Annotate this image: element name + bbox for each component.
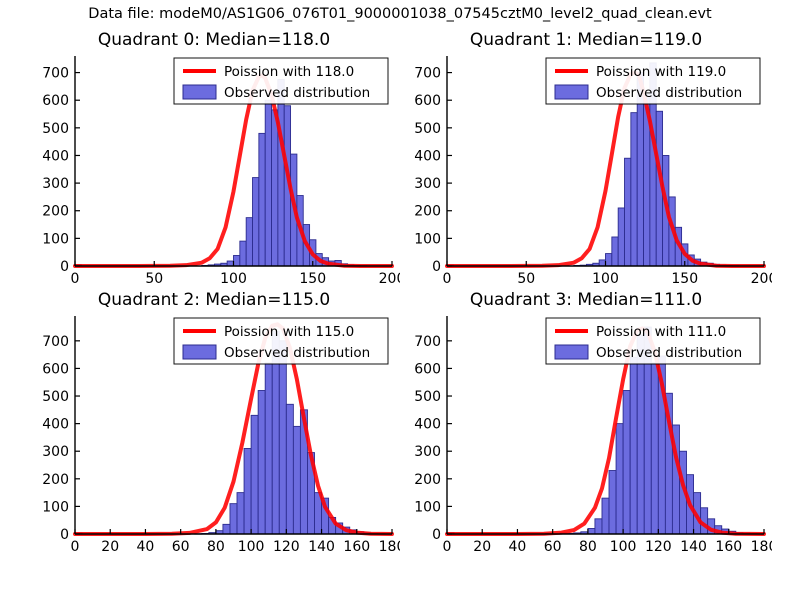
legend-label: Poission with 111.0 [596, 324, 726, 340]
histogram-bar [631, 113, 637, 266]
y-tick-label: 700 [42, 334, 69, 350]
y-tick-label: 500 [414, 389, 441, 405]
x-tick-label: 180 [379, 539, 400, 555]
histogram-bar [595, 519, 602, 534]
legend[interactable]: Poission with 115.0Observed distribution [174, 318, 388, 364]
histogram-bar [293, 426, 300, 534]
x-tick-label: 80 [207, 539, 225, 555]
legend-label: Poission with 118.0 [224, 64, 354, 80]
legend-patch-swatch [555, 345, 588, 359]
histogram-bar [599, 260, 605, 266]
histogram-bar [240, 241, 246, 266]
histogram-bar [251, 415, 258, 534]
y-tick-label: 200 [42, 472, 69, 488]
x-tick-label: 160 [715, 539, 742, 555]
x-tick-label: 120 [273, 539, 300, 555]
y-tick-label: 200 [42, 204, 69, 220]
x-tick-label: 50 [145, 271, 163, 287]
y-tick-label: 0 [60, 259, 69, 275]
y-tick-label: 500 [42, 121, 69, 137]
y-tick-label: 100 [414, 231, 441, 247]
subplot-quadrant-3: Quadrant 3: Median=111.0 020406080100120… [400, 290, 772, 566]
plot-canvas-quadrant-1: 0501001502000100200300400500600700Poissi… [400, 30, 772, 298]
x-tick-label: 60 [172, 539, 190, 555]
histogram-bar [279, 341, 286, 534]
histogram-bar [602, 498, 609, 534]
histogram-bar [265, 363, 272, 534]
subplot-quadrant-2: Quadrant 2: Median=115.0 020406080100120… [28, 290, 400, 566]
y-tick-label: 200 [414, 204, 441, 220]
histogram-bar [618, 208, 624, 266]
y-tick-label: 600 [414, 93, 441, 109]
y-tick-label: 700 [42, 66, 69, 82]
matplotlib-figure: Data file: modeM0/AS1G06_076T01_90000010… [0, 0, 800, 600]
x-tick-label: 150 [299, 271, 326, 287]
histogram-bar [606, 254, 612, 266]
legend-item[interactable]: Observed distribution [555, 85, 742, 101]
histogram-bar [259, 133, 265, 266]
x-tick-label: 0 [443, 271, 452, 287]
y-tick-label: 100 [414, 499, 441, 515]
y-tick-label: 700 [414, 334, 441, 350]
x-tick-label: 150 [671, 271, 698, 287]
histogram-bar [616, 424, 623, 534]
x-tick-label: 100 [610, 539, 637, 555]
legend-label: Observed distribution [596, 85, 742, 101]
legend-item[interactable]: Observed distribution [183, 345, 370, 361]
x-tick-label: 160 [343, 539, 370, 555]
legend-label: Observed distribution [596, 345, 742, 361]
histogram-bar [637, 335, 644, 534]
histogram-bar [651, 363, 658, 534]
histogram-bar [258, 391, 265, 534]
x-tick-label: 140 [680, 539, 707, 555]
plot-canvas-quadrant-0: 0501001502000100200300400500600700Poissi… [28, 30, 400, 298]
y-tick-label: 0 [60, 527, 69, 543]
x-tick-label: 80 [579, 539, 597, 555]
y-tick-label: 300 [414, 176, 441, 192]
histogram-bar [227, 261, 233, 266]
legend[interactable]: Poission with 118.0Observed distribution [174, 58, 388, 104]
y-tick-label: 100 [42, 499, 69, 515]
x-tick-label: 140 [308, 539, 335, 555]
y-tick-label: 400 [414, 148, 441, 164]
x-tick-label: 200 [379, 271, 400, 287]
histogram-bar [265, 100, 271, 266]
histogram-bar [253, 178, 259, 266]
y-tick-label: 300 [42, 444, 69, 460]
histogram-bar [278, 79, 284, 266]
x-tick-label: 20 [101, 539, 119, 555]
x-tick-label: 40 [137, 539, 155, 555]
x-tick-label: 200 [751, 271, 772, 287]
histogram-bar [246, 218, 252, 266]
y-tick-label: 600 [42, 93, 69, 109]
legend-patch-swatch [555, 85, 588, 99]
x-tick-label: 180 [751, 539, 772, 555]
x-tick-label: 100 [220, 271, 247, 287]
legend-label: Poission with 115.0 [224, 324, 354, 340]
histogram-bar [286, 404, 293, 534]
y-tick-label: 400 [414, 417, 441, 433]
legend-label: Observed distribution [224, 85, 370, 101]
histogram-bar [237, 493, 244, 534]
histogram-bar [625, 158, 631, 266]
histogram-bar [612, 237, 618, 266]
y-tick-label: 300 [414, 444, 441, 460]
histogram-bar [234, 256, 240, 267]
y-tick-label: 700 [414, 66, 441, 82]
histogram-bar [588, 528, 595, 534]
x-tick-label: 60 [544, 539, 562, 555]
x-tick-label: 100 [592, 271, 619, 287]
x-tick-label: 0 [71, 539, 80, 555]
y-tick-label: 200 [414, 472, 441, 488]
y-tick-label: 500 [42, 389, 69, 405]
legend-patch-swatch [183, 85, 216, 99]
x-tick-label: 50 [517, 271, 535, 287]
legend-label: Observed distribution [224, 345, 370, 361]
y-tick-label: 500 [414, 121, 441, 137]
figure-title: Data file: modeM0/AS1G06_076T01_90000010… [0, 6, 800, 22]
legend-patch-swatch [183, 345, 216, 359]
y-tick-label: 600 [414, 361, 441, 377]
x-tick-label: 100 [238, 539, 265, 555]
subplot-quadrant-0: Quadrant 0: Median=118.0 050100150200010… [28, 30, 400, 298]
plot-canvas-quadrant-2: 0204060801001201401601800100200300400500… [28, 290, 400, 566]
legend-item[interactable]: Observed distribution [555, 345, 742, 361]
y-tick-label: 400 [42, 417, 69, 433]
y-tick-label: 0 [432, 259, 441, 275]
x-tick-label: 0 [443, 539, 452, 555]
histogram-bar [609, 471, 616, 534]
legend[interactable]: Poission with 119.0Observed distribution [546, 58, 760, 104]
y-tick-label: 0 [432, 527, 441, 543]
x-tick-label: 20 [473, 539, 491, 555]
histogram-bar [630, 357, 637, 534]
y-tick-label: 100 [42, 231, 69, 247]
legend-item[interactable]: Observed distribution [183, 85, 370, 101]
x-tick-label: 0 [71, 271, 80, 287]
subplot-quadrant-1: Quadrant 1: Median=119.0 050100150200010… [400, 30, 772, 298]
plot-canvas-quadrant-3: 0204060801001201401601800100200300400500… [400, 290, 772, 566]
histogram-bar [272, 110, 278, 266]
y-tick-label: 300 [42, 176, 69, 192]
x-tick-label: 40 [509, 539, 527, 555]
histogram-bar [223, 524, 230, 534]
histogram-bar [230, 504, 237, 534]
histogram-bar [623, 391, 630, 534]
x-tick-label: 120 [645, 539, 672, 555]
y-tick-label: 600 [42, 361, 69, 377]
legend[interactable]: Poission with 111.0Observed distribution [546, 318, 760, 364]
y-tick-label: 400 [42, 148, 69, 164]
legend-label: Poission with 119.0 [596, 64, 726, 80]
histogram-bar [244, 448, 251, 534]
